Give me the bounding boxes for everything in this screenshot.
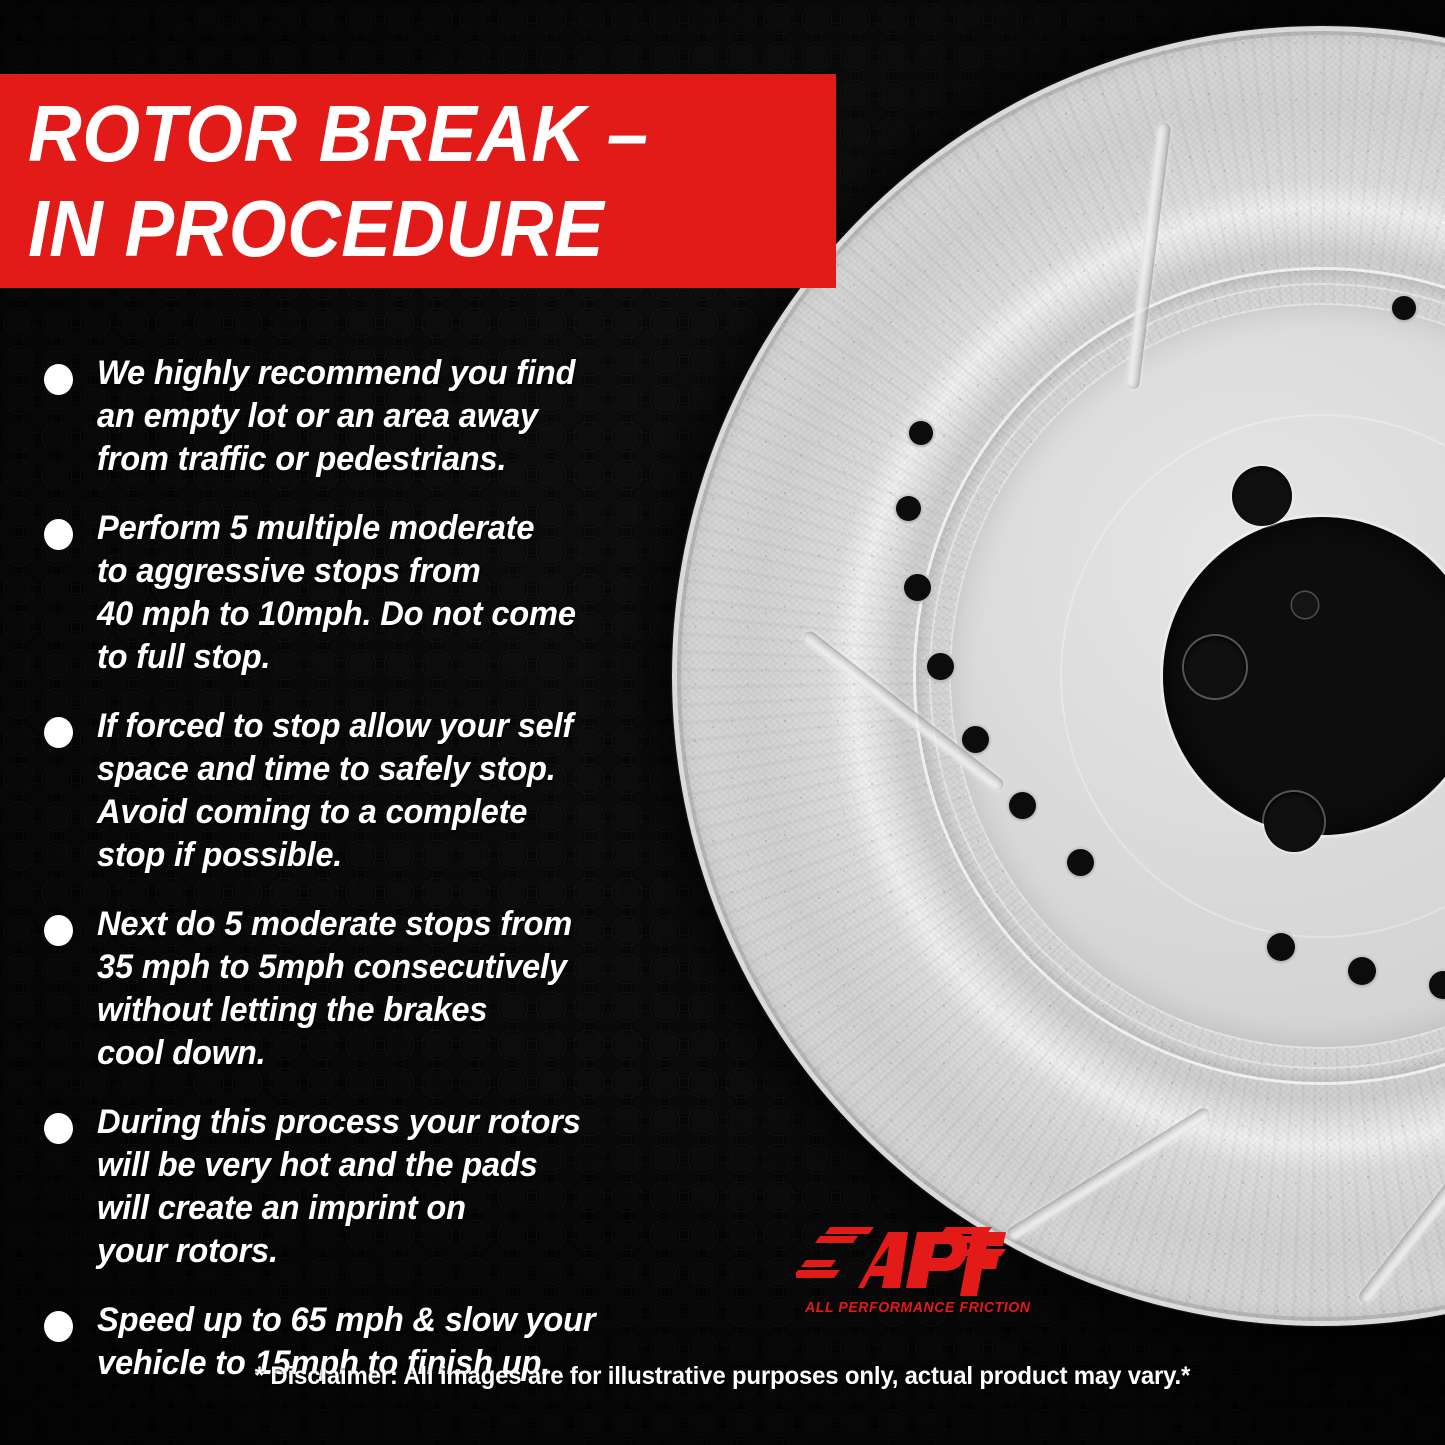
bullet-dot-icon bbox=[44, 717, 73, 748]
list-item: We highly recommend you find an empty lo… bbox=[44, 352, 756, 481]
list-item-text: We highly recommend you find an empty lo… bbox=[97, 352, 575, 481]
bullet-dot-icon bbox=[44, 915, 73, 946]
procedure-steps-list: We highly recommend you find an empty lo… bbox=[44, 352, 756, 1411]
bullet-dot-icon bbox=[44, 1113, 73, 1144]
poster-root: ROTOR BREAK – IN PROCEDURE We highly rec… bbox=[0, 0, 1445, 1445]
list-item-text: Next do 5 moderate stops from 35 mph to … bbox=[97, 903, 572, 1075]
page-title-line-2: IN PROCEDURE bbox=[28, 181, 779, 276]
apf-logo-mark bbox=[796, 1222, 1006, 1296]
bullet-dot-icon bbox=[44, 1311, 73, 1342]
list-item-text: During this process your rotors will be … bbox=[97, 1101, 581, 1273]
title-banner: ROTOR BREAK – IN PROCEDURE bbox=[0, 74, 836, 288]
apf-logo-tagline: ALL PERFORMANCE FRICTION bbox=[805, 1300, 1003, 1316]
list-item-text: Perform 5 multiple moderate to aggressiv… bbox=[97, 507, 576, 679]
bullet-dot-icon bbox=[44, 364, 73, 395]
list-item: If forced to stop allow your self space … bbox=[44, 705, 756, 877]
list-item: Next do 5 moderate stops from 35 mph to … bbox=[44, 903, 756, 1075]
list-item-text: If forced to stop allow your self space … bbox=[97, 705, 573, 877]
list-item: Perform 5 multiple moderate to aggressiv… bbox=[44, 507, 756, 679]
page-title-line-1: ROTOR BREAK – bbox=[28, 86, 779, 181]
disclaimer-text: * Disclaimer: All images are for illustr… bbox=[29, 1362, 1416, 1391]
list-item: During this process your rotors will be … bbox=[44, 1101, 756, 1273]
bullet-dot-icon bbox=[44, 519, 73, 550]
apf-brand-logo: ALL PERFORMANCE FRICTION bbox=[796, 1222, 1006, 1332]
